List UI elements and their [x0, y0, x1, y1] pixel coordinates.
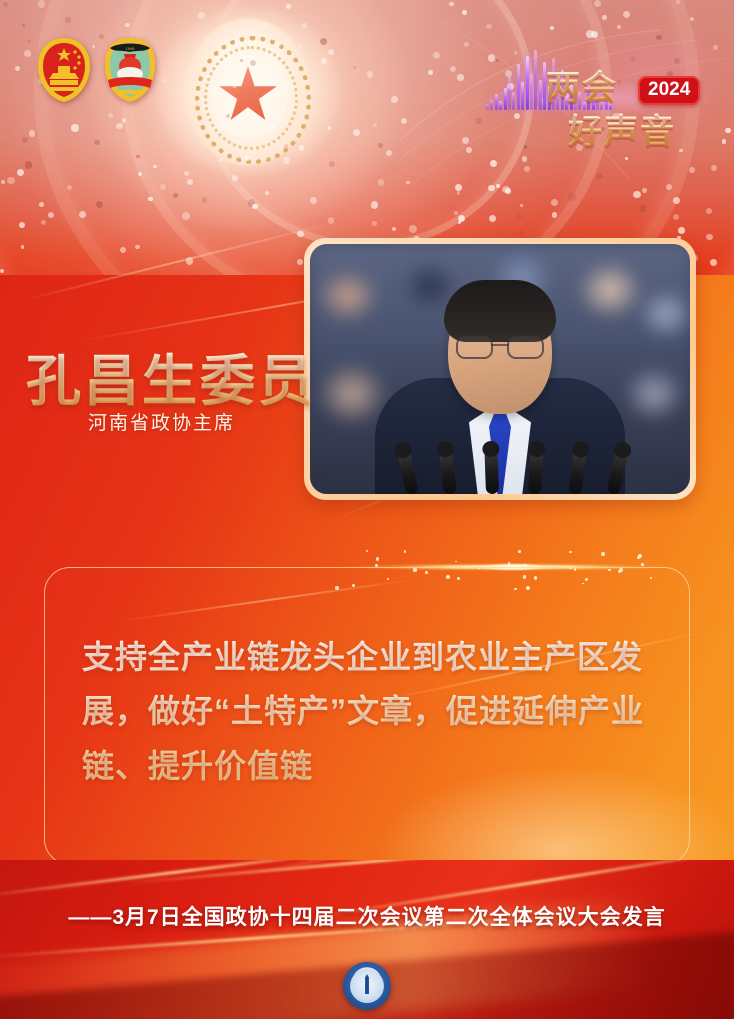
photo-hair — [444, 280, 556, 342]
brand-line-2: 好声音 — [568, 104, 676, 153]
cppcc-emblem-icon: 1949 — [102, 36, 158, 104]
quote-text: 支持全产业链龙头企业到农业主产区发展，做好“土特产”文章，促进延伸产业链、提升价… — [82, 630, 674, 793]
speaker-role: 河南省政协主席 — [88, 408, 235, 435]
speaker-photo — [310, 244, 690, 494]
speaker-photo-frame — [304, 238, 696, 500]
emblem-group: 1949 — [36, 36, 166, 112]
brand-lockup: 两会 2024 好声音 — [546, 60, 718, 144]
speaker-name: 孔昌生委员 — [26, 336, 316, 416]
year-badge: 2024 — [638, 76, 700, 105]
footer-caption: ——3月7日全国政协十四届二次会议第二次全体会议大会发言 — [0, 901, 734, 931]
svg-text:1949: 1949 — [126, 46, 136, 51]
publisher-logo-icon — [343, 962, 391, 1010]
photo-glasses-icon — [456, 336, 544, 356]
national-emblem-of-china-icon — [36, 36, 92, 104]
poster-canvas: 1949 两会 2024 好声音 孔昌生委员 河南省政协主席 — [0, 0, 734, 1019]
brand-line-1: 两会 — [546, 60, 618, 109]
photo-microphones-icon — [310, 436, 690, 494]
